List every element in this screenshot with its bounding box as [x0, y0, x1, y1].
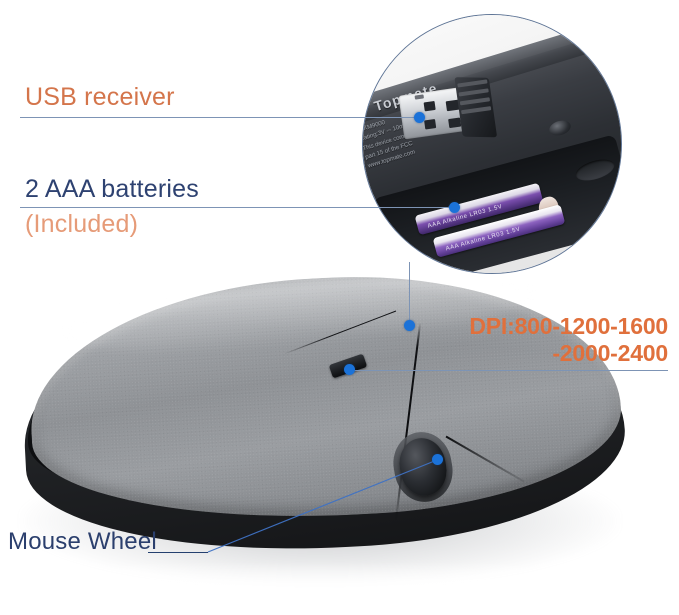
usb-contact-hole	[424, 101, 436, 111]
battery-marker	[449, 202, 460, 213]
callout-aaa-batteries: 2 AAA batteries	[25, 176, 199, 202]
leader-line-mouse-wheel	[148, 552, 208, 553]
callout-dpi: DPI:800-1200-1600 -2000-2400	[402, 313, 668, 367]
leader-line-dpi	[352, 370, 668, 371]
product-infographic: Topmate M:KM9000 Rating:3V ⎓ 10mA This d…	[0, 0, 679, 615]
inset-circle-photo: Topmate M:KM9000 Rating:3V ⎓ 10mA This d…	[362, 14, 622, 274]
usb-contact-hole	[424, 119, 436, 129]
callout-usb-receiver: USB receiver	[25, 84, 175, 110]
callout-mouse-wheel: Mouse Wheel	[8, 529, 157, 554]
callout-included-note: (Included)	[25, 211, 138, 237]
leader-line-usb-receiver	[20, 117, 420, 118]
usb-notch	[415, 94, 424, 99]
dpi-button-marker	[344, 364, 355, 375]
leader-line-aaa-batteries	[20, 207, 455, 208]
scroll-wheel-marker	[432, 454, 443, 465]
usb-receiver-marker	[414, 112, 425, 123]
ground-fade	[0, 562, 679, 615]
usb-receiver-dongle	[397, 75, 500, 148]
